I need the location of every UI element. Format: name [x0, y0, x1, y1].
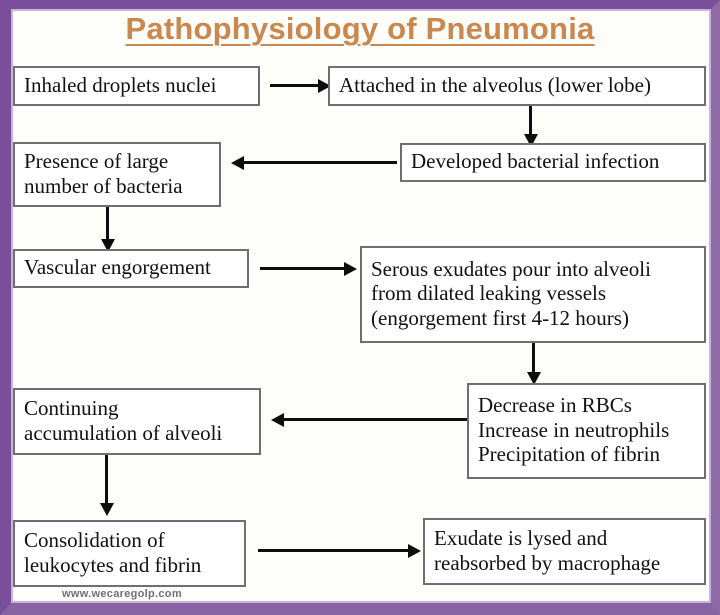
node-line: Continuing	[24, 396, 252, 421]
watermark: www.wecaregolp.com	[62, 588, 182, 600]
node-line: Presence of large	[24, 149, 212, 174]
node-exudate-is-lysed[interactable]: Exudate is lysed and reabsorbed by macro…	[423, 518, 706, 585]
node-line: (engorgement first 4-12 hours)	[371, 306, 697, 331]
node-attached-in-alveolus[interactable]: Attached in the alveolus (lower lobe)	[328, 66, 706, 106]
diagram-canvas: Pathophysiology of Pneumonia Inhaled dro…	[0, 0, 720, 615]
node-decrease-in-rbcs[interactable]: Decrease in RBCs Increase in neutrophils…	[467, 383, 706, 479]
edge-n9-n10-line	[258, 549, 410, 552]
node-line: Precipitation of fibrin	[478, 442, 697, 467]
node-consolidation-of-leukocytes-and-fibrin[interactable]: Consolidation of leukocytes and fibrin	[13, 520, 246, 587]
node-serous-exudates[interactable]: Serous exudates pour into alveoli from d…	[360, 246, 706, 343]
node-line: from dilated leaking vessels	[371, 281, 697, 306]
node-line: Vascular engorgement	[24, 255, 240, 280]
node-line: leukocytes and fibrin	[24, 553, 237, 578]
node-line: Serous exudates pour into alveoli	[371, 257, 697, 282]
node-line: Inhaled droplets nuclei	[24, 73, 251, 98]
edge-n7-n8-line	[283, 418, 469, 421]
node-line: number of bacteria	[24, 174, 212, 199]
node-vascular-engorgement[interactable]: Vascular engorgement	[13, 249, 249, 288]
edge-n8-n9-arrowhead	[100, 503, 114, 516]
node-line: Exudate is lysed and	[434, 526, 697, 551]
node-line: Consolidation of	[24, 528, 237, 553]
node-developed-bacterial-infection[interactable]: Developed bacterial infection	[400, 143, 706, 182]
edge-n7-n8-arrowhead	[271, 413, 284, 427]
edge-n5-n6-arrowhead	[344, 262, 357, 276]
node-continuing-accumulation-of-alveoli[interactable]: Continuing accumulation of alveoli	[13, 388, 261, 455]
edge-n5-n6-line	[260, 267, 346, 270]
edge-n1-n2-line	[270, 84, 320, 87]
edge-n3-n4-arrowhead	[231, 156, 244, 170]
node-line: Developed bacterial infection	[411, 149, 697, 174]
node-line: Attached in the alveolus (lower lobe)	[339, 73, 697, 98]
edge-n6-n7-line	[532, 343, 535, 375]
edge-n9-n10-arrowhead	[408, 544, 421, 558]
node-inhaled-droplets-nuclei[interactable]: Inhaled droplets nuclei	[13, 66, 260, 106]
node-line: accumulation of alveoli	[24, 421, 252, 446]
edge-n2-n3-line	[529, 106, 532, 137]
node-line: Increase in neutrophils	[478, 418, 697, 443]
node-presence-of-large-number-of-bacteria[interactable]: Presence of large number of bacteria	[13, 142, 221, 207]
page-title: Pathophysiology of Pneumonia	[0, 11, 720, 47]
edge-n4-n5-line	[106, 207, 109, 242]
node-line: reabsorbed by macrophage	[434, 551, 697, 576]
edge-n3-n4-line	[243, 161, 397, 164]
edge-n8-n9-line	[105, 455, 108, 506]
node-line: Decrease in RBCs	[478, 393, 697, 418]
